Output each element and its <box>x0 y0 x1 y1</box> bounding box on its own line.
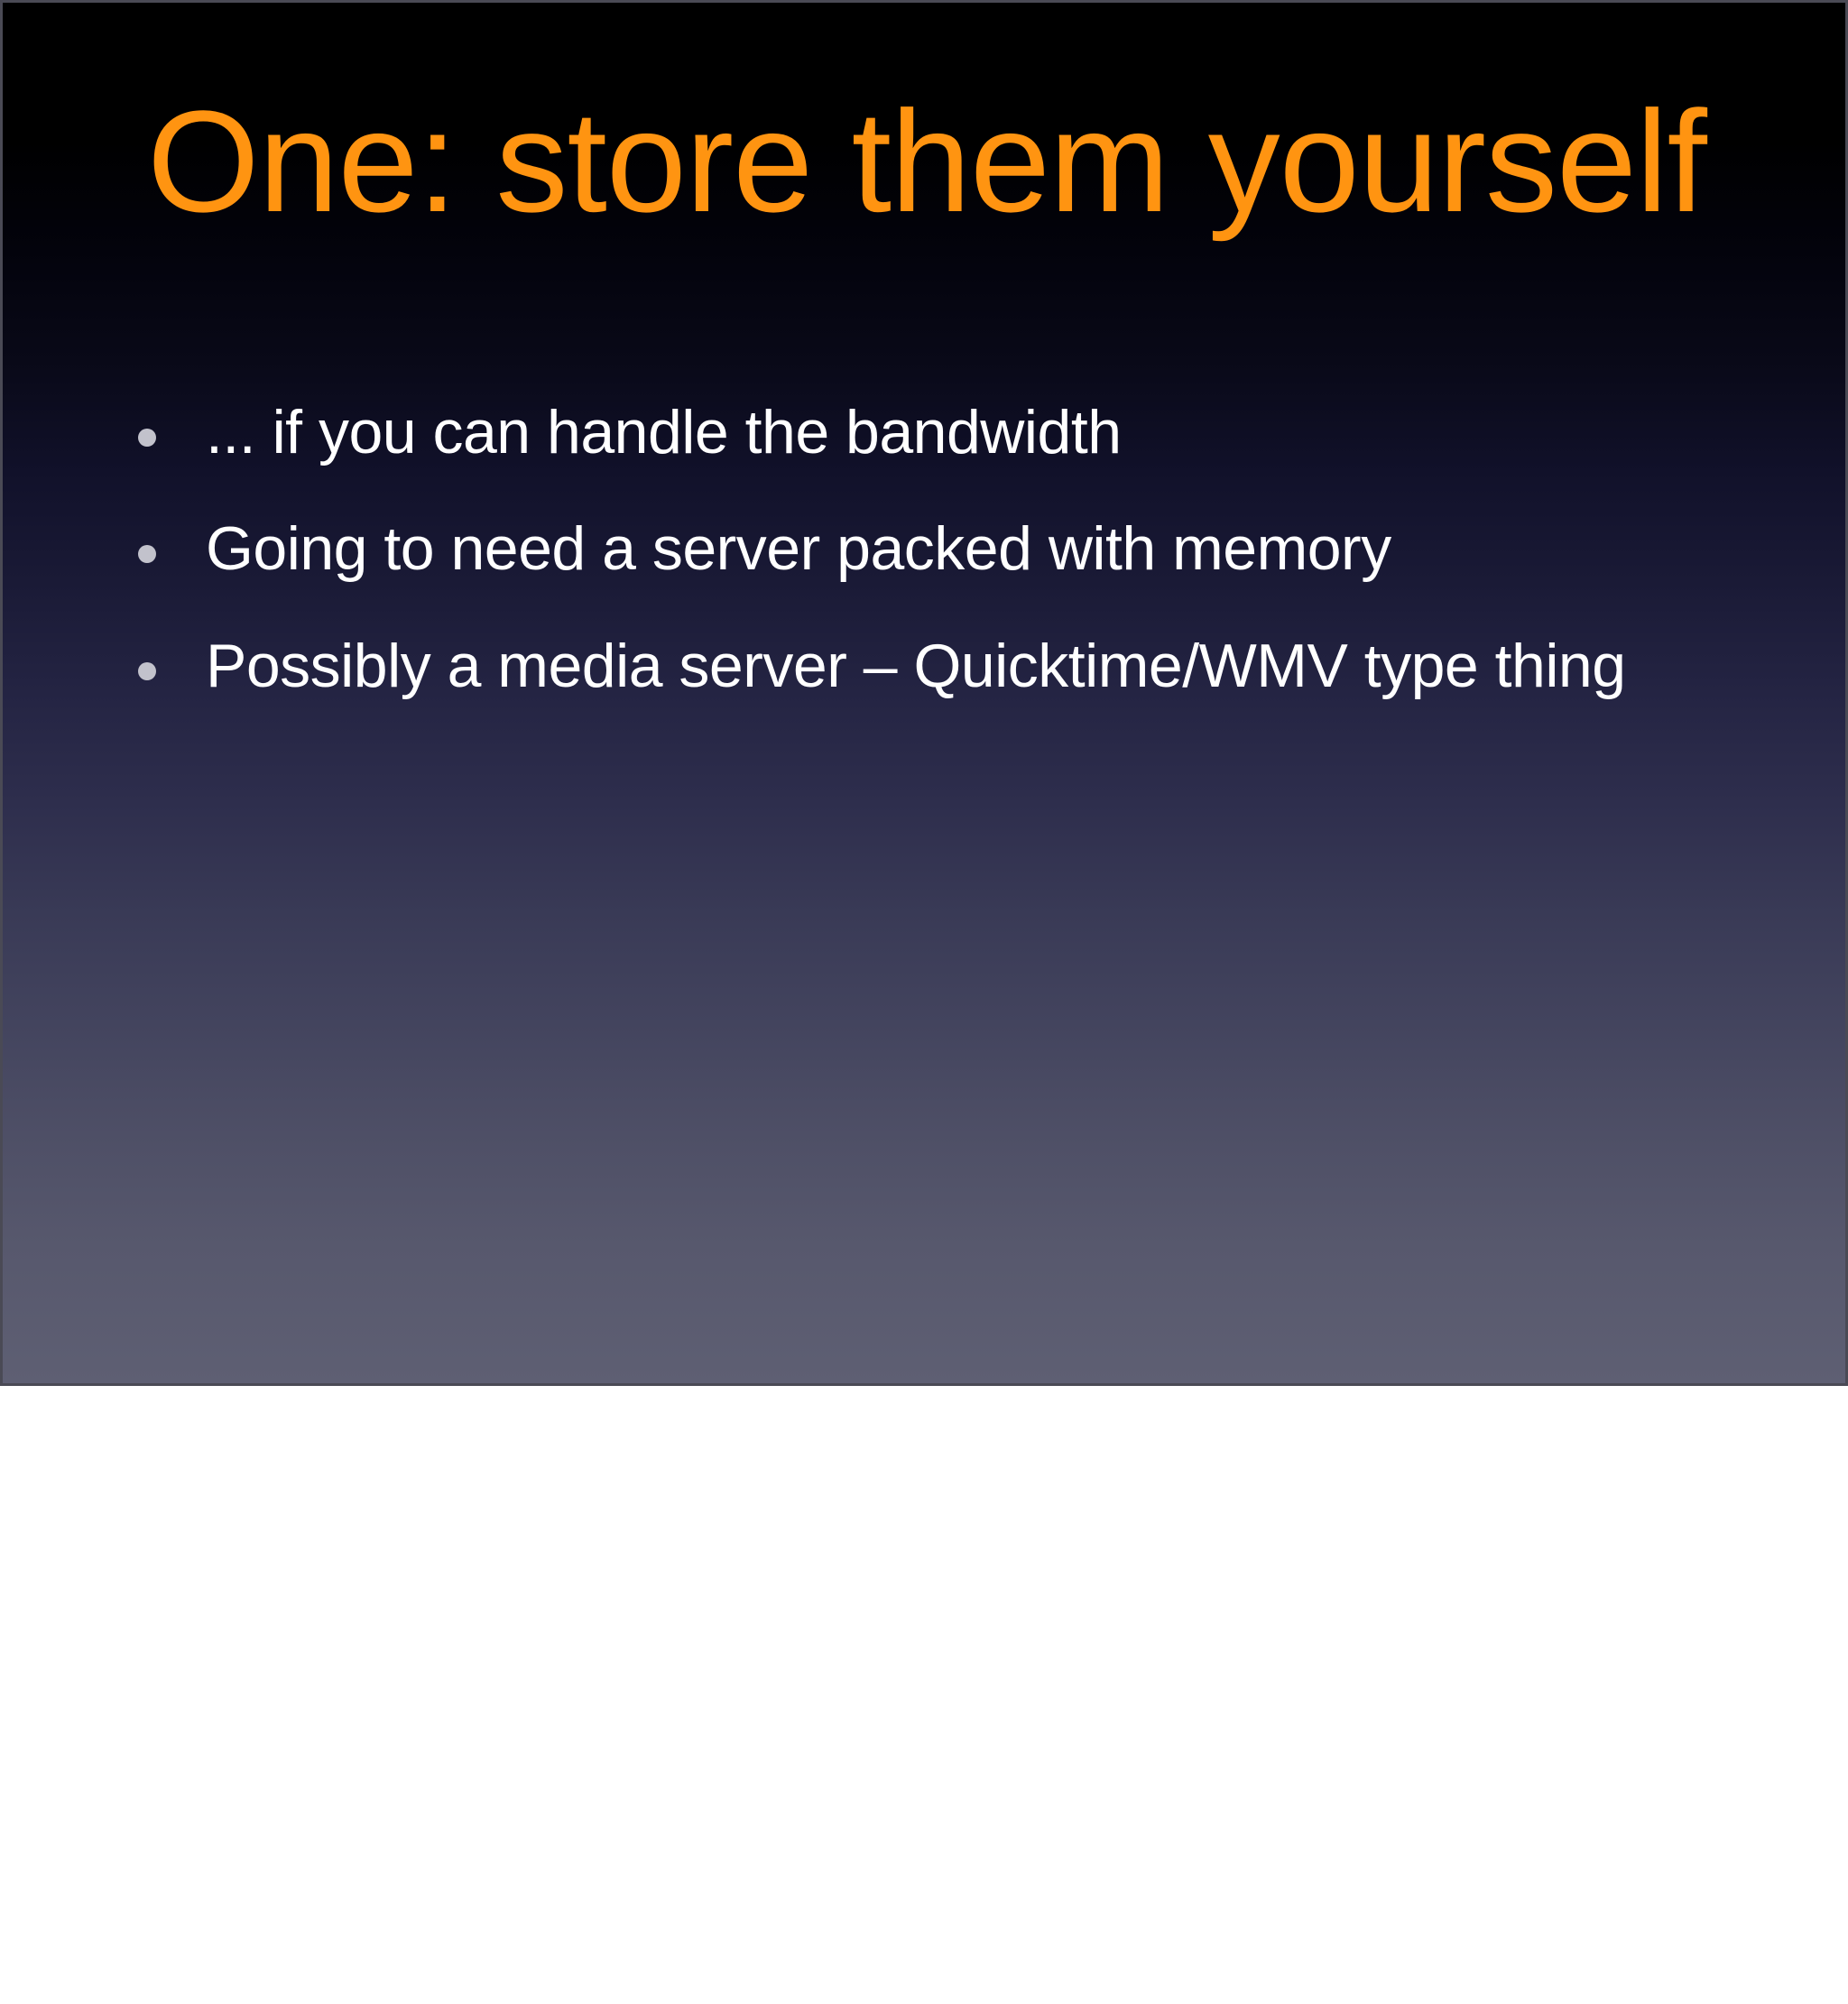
bullet-list: ... if you can handle the bandwidth Goin… <box>138 400 1807 750</box>
bullet-point-icon <box>138 662 156 680</box>
slide-canvas: One: store them yourself ... if you can … <box>0 0 1848 1386</box>
page-whitespace <box>0 1386 1848 2004</box>
presentation-page: One: store them yourself ... if you can … <box>0 0 1848 2004</box>
bullet-item: ... if you can handle the bandwidth <box>138 400 1807 466</box>
slide-empty-content-area <box>138 779 1726 1320</box>
slide-title: One: store them yourself <box>3 89 1848 234</box>
bullet-item: Going to need a server packed with memor… <box>138 516 1807 582</box>
bullet-item-label: Possibly a media server – Quicktime/WMV … <box>206 633 1807 699</box>
bullet-item: Possibly a media server – Quicktime/WMV … <box>138 633 1807 699</box>
bullet-point-icon <box>138 429 156 447</box>
bullet-point-icon <box>138 545 156 563</box>
bullet-item-label: Going to need a server packed with memor… <box>206 516 1807 582</box>
bullet-item-label: ... if you can handle the bandwidth <box>206 400 1807 466</box>
